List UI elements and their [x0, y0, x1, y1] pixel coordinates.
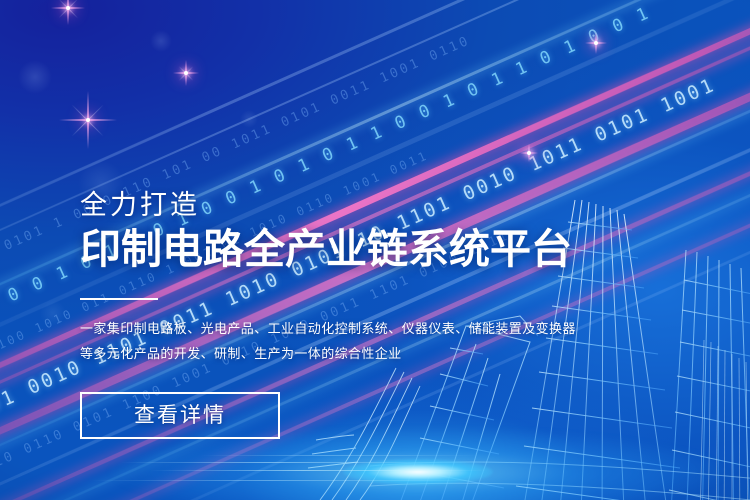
- hero-description: 一家集印制电路板、光电产品、工业自动化控制系统、仪器仪表、储能装置及变换器 等多…: [80, 316, 640, 366]
- hero-eyebrow: 全力打造: [80, 190, 640, 221]
- hero-content: 全力打造 印制电路全产业链系统平台 一家集印制电路板、光电产品、工业自动化控制系…: [80, 190, 640, 439]
- view-details-button[interactable]: 查看详情: [80, 392, 280, 439]
- hero-divider: [80, 298, 158, 300]
- hero-banner: 01001 101 01 0011 10 1001 0101 1 0010 11…: [0, 0, 750, 500]
- hero-description-line-1: 一家集印制电路板、光电产品、工业自动化控制系统、仪器仪表、储能装置及变换器: [80, 316, 640, 341]
- hero-headline: 印制电路全产业链系统平台: [80, 227, 640, 273]
- hero-description-line-2: 等多元化产品的开发、研制、生产为一体的综合性企业: [80, 341, 640, 366]
